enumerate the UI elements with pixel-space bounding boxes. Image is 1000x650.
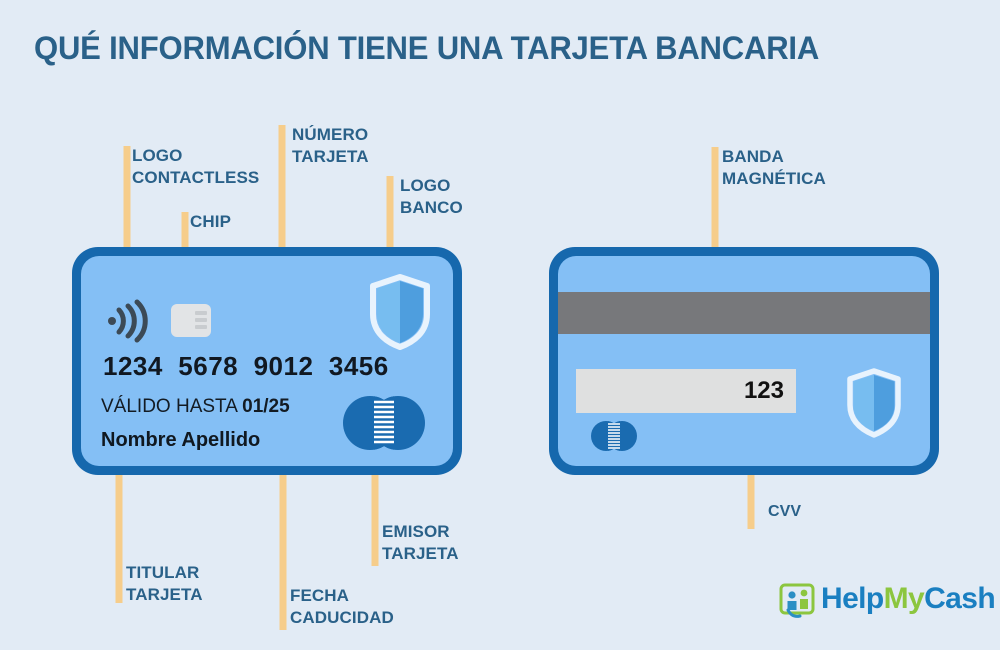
card-number: 1234 5678 9012 3456: [103, 351, 389, 382]
label-fecha-caducidad: FECHA CADUCIDAD: [290, 585, 394, 629]
card-holder-name: Nombre Apellido: [101, 429, 260, 452]
card-valid-thru: VÁLIDO HASTA 01/25: [101, 396, 290, 418]
label-titular-tarjeta: TITULAR TARJETA: [126, 562, 203, 606]
card-front-face: 1234 5678 9012 3456 VÁLIDO HASTA 01/25 N…: [81, 256, 453, 466]
card-back: 123: [549, 247, 939, 475]
label-logo-contactless: LOGO CONTACTLESS: [132, 145, 259, 189]
valid-thru-value: 01/25: [242, 396, 290, 417]
card-front: 1234 5678 9012 3456 VÁLIDO HASTA 01/25 N…: [72, 247, 462, 475]
page-title: QUÉ INFORMACIÓN TIENE UNA TARJETA BANCAR…: [34, 30, 819, 67]
brand-name-help: Help: [821, 582, 884, 615]
label-banda-magnetica: BANDA MAGNÉTICA: [722, 146, 826, 190]
brand-name: HelpMyCash: [821, 582, 995, 616]
signature-panel: 123: [576, 369, 796, 413]
issuer-circles-icon: [590, 421, 638, 451]
label-cvv: CVV: [768, 502, 801, 522]
brand-name-cash: Cash: [924, 582, 995, 615]
infographic-canvas: QUÉ INFORMACIÓN TIENE UNA TARJETA BANCAR…: [0, 0, 1000, 650]
card-back-face: 123: [558, 256, 930, 466]
brand-name-my: My: [884, 582, 924, 615]
valid-thru-label: VÁLIDO HASTA: [101, 396, 242, 417]
helpmycash-mark-icon: [779, 582, 817, 620]
magnetic-stripe: [558, 292, 930, 334]
contactless-icon: [106, 298, 152, 344]
label-numero-tarjeta: NÚMERO TARJETA: [292, 124, 369, 168]
cvv-value: 123: [744, 377, 784, 405]
label-emisor-tarjeta: EMISOR TARJETA: [382, 521, 459, 565]
label-logo-banco: LOGO BANCO: [400, 175, 463, 219]
shield-icon: [846, 368, 902, 438]
issuer-circles-icon: [341, 396, 427, 450]
chip-icon: [171, 304, 211, 337]
shield-icon: [369, 274, 431, 350]
brand-logo: HelpMyCash: [779, 580, 984, 624]
